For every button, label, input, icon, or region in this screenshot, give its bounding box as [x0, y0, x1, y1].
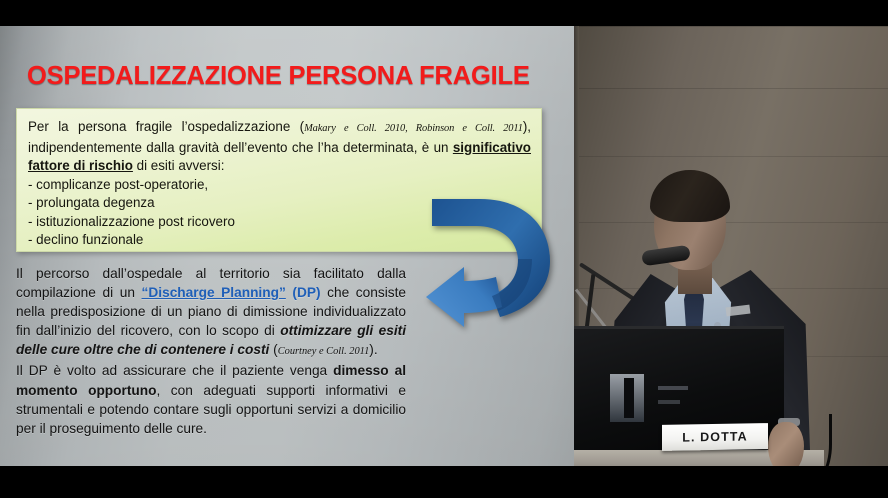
green-box-paragraph: Per la persona fragile l’ospedalizzazion… [28, 118, 531, 176]
green-paragraph-part3: di esiti avversi: [133, 158, 225, 173]
speaker-nameplate: L. DOTTA [662, 423, 768, 451]
discharge-planning-term: “Discharge Planning” (DP) [142, 285, 321, 300]
speaker-name-label: L. DOTTA [682, 429, 748, 444]
curved-arrow-icon [418, 193, 574, 335]
letterbox-bar-top [0, 0, 888, 26]
monitor-text-line [658, 386, 688, 390]
speaker-hand [768, 422, 804, 466]
slide-title: OSPEDALIZZAZIONE PERSONA FRAGILE [27, 62, 547, 91]
citation-makary-robinson: Makary e Coll. 2010, Robinson e Coll. 20… [304, 123, 523, 134]
green-paragraph-part1: Per la persona fragile l’ospedalizzazion… [28, 119, 304, 134]
video-player-frame: OSPEDALIZZAZIONE PERSONA FRAGILE Per la … [0, 0, 888, 498]
letterbox-bar-bottom [0, 466, 888, 498]
speaker-video-feed[interactable]: L. DOTTA [574, 26, 888, 466]
presentation-slide: OSPEDALIZZAZIONE PERSONA FRAGILE Per la … [0, 26, 574, 466]
dp2-paragraph-part-a: Il DP è volto ad assicurare che il pazie… [16, 363, 333, 378]
dp-paragraph-part-d: ). [369, 342, 377, 357]
list-item: - complicanze post-operatorie, [28, 176, 531, 194]
discharge-planning-paragraph: Il percorso dall’ospedale al territorio … [16, 264, 406, 361]
slide-body-text: Il percorso dall’ospedale al territorio … [16, 264, 406, 438]
monitor-screen-divider [624, 378, 634, 418]
discharge-planning-abbrev: (DP) [286, 285, 321, 300]
monitor-text-line [658, 400, 680, 404]
citation-courtney: Courtney e Coll. 2011 [278, 346, 370, 357]
discharge-timing-paragraph: Il DP è volto ad assicurare che il pazie… [16, 361, 406, 437]
discharge-planning-quoted: “Discharge Planning” [142, 285, 286, 300]
dp-paragraph-part-c: ( [269, 342, 277, 357]
